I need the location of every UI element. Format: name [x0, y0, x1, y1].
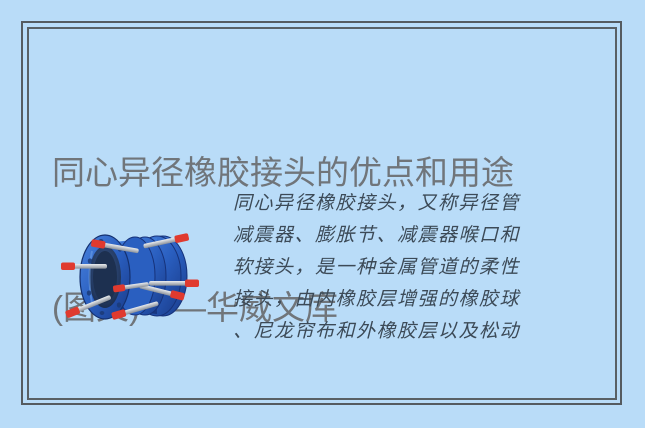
body-line-5: 、尼龙帘布和外橡胶层以及松动: [233, 316, 605, 348]
body-line-2: 减震器、膨胀节、减震器喉口和: [233, 220, 605, 252]
body-line-1: 同心异径橡胶接头，又称异径管: [233, 188, 605, 220]
content-row: 同心异径橡胶接头，又称异径管 减震器、膨胀节、减震器喉口和 软接头，是一种金属管…: [0, 183, 645, 393]
body-line-3: 软接头，是一种金属管道的柔性: [233, 252, 605, 284]
body-paragraph: 同心异径橡胶接头，又称异径管 减震器、膨胀节、减震器喉口和 软接头，是一种金属管…: [233, 188, 605, 348]
poster-canvas: 同心异径橡胶接头的优点和用途 (图文)——华威文库: [0, 0, 645, 428]
body-line-4: 接头，由内橡胶层增强的橡胶球: [233, 284, 605, 316]
product-image: [57, 221, 207, 339]
